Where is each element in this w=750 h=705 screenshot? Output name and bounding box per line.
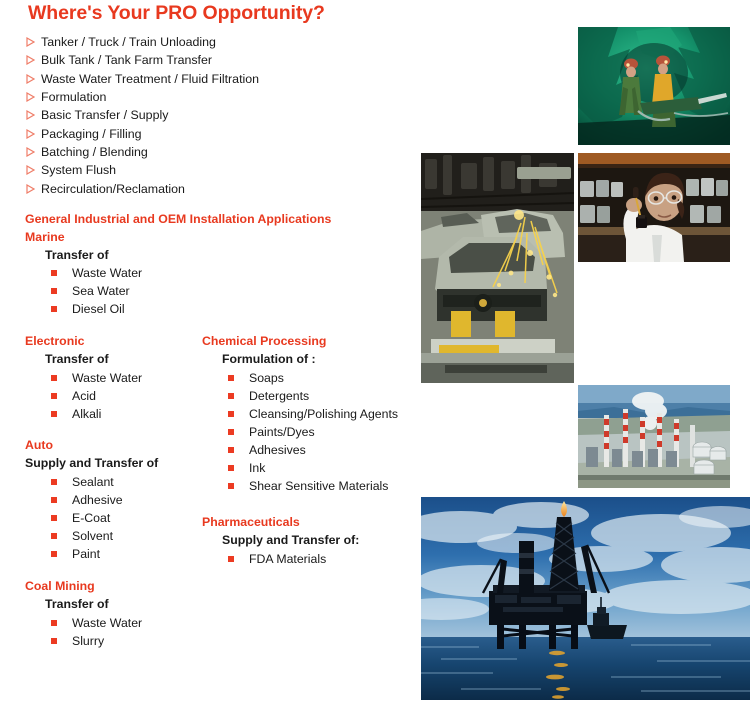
coal-mining-section: Coal Mining Transfer of Waste WaterSlurr… [25,578,142,650]
general-industrial-action: Transfer of [25,247,331,265]
square-bullet-icon [48,551,72,557]
square-bullet-icon [48,375,72,381]
pharmaceuticals-heading: Pharmaceuticals [202,514,359,532]
list-item-label: Waste Water [72,616,142,630]
chemical-processing-action: Formulation of : [202,351,398,369]
list-item-label: Paint [72,547,100,561]
triangle-bullet-icon [26,74,41,84]
list-item-label: Cleansing/Polishing Agents [249,407,398,421]
opportunity-list-item: Formulation [26,88,426,106]
laboratory-technician-photo [578,153,730,262]
square-bullet-icon [225,465,249,471]
list-item-label: Shear Sensitive Materials [249,479,388,493]
pharmaceuticals-section: Pharmaceuticals Supply and Transfer of: … [202,514,359,568]
opportunity-list-item-label: Waste Water Treatment / Fluid Filtration [41,72,259,86]
opportunity-list-item-label: Formulation [41,90,106,104]
opportunity-list-item: Waste Water Treatment / Fluid Filtration [26,70,426,88]
list-item: Diesel Oil [48,300,331,318]
auto-section: Auto Supply and Transfer of SealantAdhes… [25,437,158,563]
general-industrial-heading: General Industrial and OEM Installation … [25,211,331,229]
opportunity-list-item: Tanker / Truck / Train Unloading [26,33,426,51]
list-item-label: Waste Water [72,371,142,385]
list-item-label: Alkali [72,407,101,421]
triangle-bullet-icon [26,55,41,65]
square-bullet-icon [48,479,72,485]
square-bullet-icon [48,638,72,644]
opportunity-list-item-label: Recirculation/Reclamation [41,182,185,196]
offshore-oil-rig-photo [421,497,750,700]
list-item: Slurry [48,632,142,650]
list-item: Ink [225,459,398,477]
general-industrial-items: Waste WaterSea WaterDiesel Oil [25,264,331,318]
opportunity-list-item-label: Packaging / Filling [41,127,142,141]
list-item: Sea Water [48,282,331,300]
triangle-bullet-icon [26,92,41,102]
square-bullet-icon [48,270,72,276]
triangle-bullet-icon [26,165,41,175]
opportunity-list-item: Batching / Blending [26,143,426,161]
coal-mining-heading: Coal Mining [25,578,142,596]
electronic-heading: Electronic [25,333,142,351]
list-item: Adhesives [225,441,398,459]
opportunity-list-item: Packaging / Filling [26,124,426,142]
list-item: Solvent [48,527,158,545]
opportunity-list-item: Recirculation/Reclamation [26,179,426,197]
list-item: E-Coat [48,509,158,527]
coal-mining-items: Waste WaterSlurry [25,614,142,650]
square-bullet-icon [225,375,249,381]
list-item-label: Sealant [72,475,114,489]
automotive-assembly-photo [421,153,574,383]
square-bullet-icon [48,393,72,399]
square-bullet-icon [48,620,72,626]
list-item: Waste Water [48,264,331,282]
square-bullet-icon [48,411,72,417]
auto-items: SealantAdhesiveE-CoatSolventPaint [25,473,158,563]
general-industrial-section: General Industrial and OEM Installation … [25,211,331,318]
electronic-section: Electronic Transfer of Waste WaterAcidAl… [25,333,142,423]
underground-mining-photo [578,27,730,145]
chemical-processing-heading: Chemical Processing [202,333,398,351]
list-item: Sealant [48,473,158,491]
list-item-label: Diesel Oil [72,302,125,316]
list-item-label: Adhesive [72,493,123,507]
list-item: Alkali [48,405,142,423]
list-item-label: Sea Water [72,284,130,298]
auto-action: Supply and Transfer of [25,455,158,473]
list-item-label: Detergents [249,389,309,403]
coal-mining-action: Transfer of [25,596,142,614]
chemical-processing-items: SoapsDetergentsCleansing/Polishing Agent… [202,369,398,495]
square-bullet-icon [48,497,72,503]
chemical-refinery-photo [578,385,730,488]
square-bullet-icon [48,288,72,294]
square-bullet-icon [225,483,249,489]
opportunity-list-item-label: Basic Transfer / Supply [41,108,168,122]
opportunity-list-item-label: Tanker / Truck / Train Unloading [41,35,216,49]
triangle-bullet-icon [26,147,41,157]
list-item: Detergents [225,387,398,405]
list-item: Paints/Dyes [225,423,398,441]
list-item-label: Waste Water [72,266,142,280]
opportunity-list-item-label: Batching / Blending [41,145,148,159]
electronic-items: Waste WaterAcidAlkali [25,369,142,423]
list-item-label: Slurry [72,634,104,648]
square-bullet-icon [225,556,249,562]
list-item: Cleansing/Polishing Agents [225,405,398,423]
triangle-bullet-icon [26,129,41,139]
slide-text-content: Where's Your PRO Opportunity? Tanker / T… [0,0,430,705]
list-item: Shear Sensitive Materials [225,477,398,495]
opportunity-list-item-label: System Flush [41,163,116,177]
list-item: Soaps [225,369,398,387]
square-bullet-icon [225,411,249,417]
list-item: Adhesive [48,491,158,509]
pharmaceuticals-action: Supply and Transfer of: [202,532,359,550]
square-bullet-icon [48,515,72,521]
pharmaceuticals-items: FDA Materials [202,550,359,568]
auto-heading: Auto [25,437,158,455]
list-item-label: Adhesives [249,443,306,457]
square-bullet-icon [225,429,249,435]
triangle-bullet-icon [26,37,41,47]
list-item: Waste Water [48,614,142,632]
opportunity-list-item: Bulk Tank / Tank Farm Transfer [26,51,426,69]
list-item: Waste Water [48,369,142,387]
square-bullet-icon [48,306,72,312]
list-item: Paint [48,545,158,563]
list-item-label: Soaps [249,371,284,385]
square-bullet-icon [225,447,249,453]
list-item: Acid [48,387,142,405]
list-item-label: Solvent [72,529,113,543]
list-item-label: Paints/Dyes [249,425,315,439]
list-item: FDA Materials [225,550,359,568]
page-title: Where's Your PRO Opportunity? [28,2,325,25]
list-item-label: FDA Materials [249,552,326,566]
chemical-processing-section: Chemical Processing Formulation of : Soa… [202,333,398,495]
square-bullet-icon [48,533,72,539]
square-bullet-icon [225,393,249,399]
opportunity-list-item: System Flush [26,161,426,179]
list-item-label: E-Coat [72,511,110,525]
opportunity-list: Tanker / Truck / Train UnloadingBulk Tan… [26,33,426,198]
general-industrial-subheading: Marine [25,229,331,247]
opportunity-list-item: Basic Transfer / Supply [26,106,426,124]
triangle-bullet-icon [26,110,41,120]
opportunity-list-item-label: Bulk Tank / Tank Farm Transfer [41,53,212,67]
list-item-label: Acid [72,389,96,403]
list-item-label: Ink [249,461,265,475]
triangle-bullet-icon [26,184,41,194]
electronic-action: Transfer of [25,351,142,369]
